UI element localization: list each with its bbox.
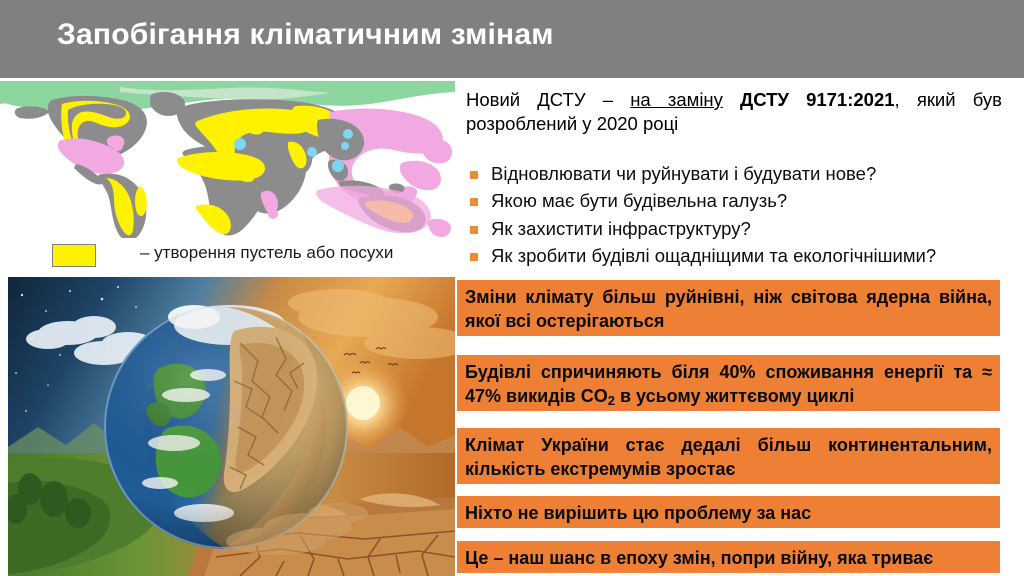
list-item: Відновлювати чи руйнувати і будувати нов…	[470, 162, 1010, 186]
callout-box-buildings-energy: Будівлі спричиняють біля 40% споживання …	[457, 355, 1000, 411]
list-item: Як зробити будівлі ощадніщими та екологі…	[470, 244, 1010, 268]
bullet-label: Як захистити інфраструктуру?	[491, 217, 751, 241]
bullet-label: Якою має бути будівельна галузь?	[491, 189, 787, 213]
legend-label-desertification: – утворення пустель або посухи	[140, 243, 393, 263]
bullet-label: Як зробити будівлі ощадніщими та екологі…	[491, 244, 936, 268]
square-bullet-icon	[470, 226, 478, 234]
callout-box-our-chance: Це – наш шанс в епоху змін, попри війну,…	[457, 541, 1000, 573]
map-legend: – утворення пустель або посухи	[0, 240, 455, 276]
world-map-graphic	[0, 78, 455, 243]
callout-text-post: в усьому життєвому циклі	[615, 386, 854, 406]
intro-underlined: на заміну	[630, 89, 723, 110]
intro-paragraph: Новий ДСТУ – на заміну ДСТУ 9171:2021, я…	[466, 88, 1002, 135]
intro-bold-standard: ДСТУ 9171:2021	[723, 89, 895, 110]
climate-earth-graphic	[8, 277, 455, 576]
climate-earth-photo	[8, 277, 455, 576]
co2-subscript: 2	[608, 393, 615, 408]
square-bullet-icon	[470, 198, 478, 206]
world-map-image	[0, 78, 455, 243]
list-item: Якою має бути будівельна галузь?	[470, 189, 1010, 213]
slide-canvas: Запобігання кліматичним змінам	[0, 0, 1024, 576]
callout-box-climate-change: Зміни клімату більш руйнівні, ніж світов…	[457, 280, 1000, 336]
callout-box-ukraine-climate: Клімат України стає дедалі більш контине…	[457, 428, 1000, 484]
bullet-label: Відновлювати чи руйнувати і будувати нов…	[491, 162, 876, 186]
square-bullet-icon	[470, 171, 478, 179]
square-bullet-icon	[470, 253, 478, 261]
legend-swatch-desertification	[52, 244, 96, 267]
page-title: Запобігання кліматичним змінам	[57, 18, 554, 52]
callout-box-nobody-solves: Ніхто не вирішить цю проблему за нас	[457, 496, 1000, 528]
question-bullet-list: Відновлювати чи руйнувати і будувати нов…	[470, 162, 1010, 272]
list-item: Як захистити інфраструктуру?	[470, 217, 1010, 241]
intro-part1: Новий ДСТУ –	[466, 89, 630, 110]
